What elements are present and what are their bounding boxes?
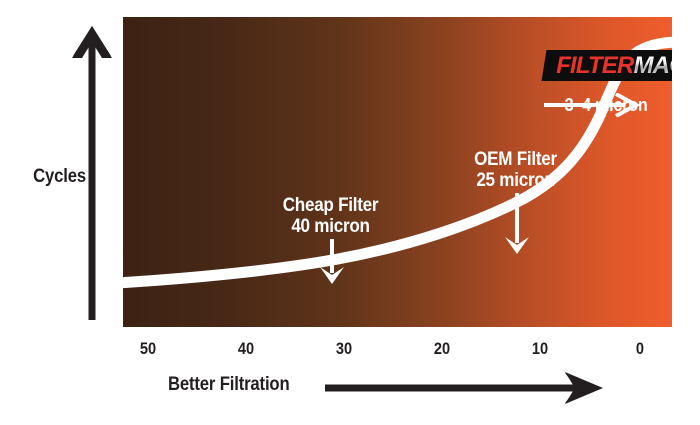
x-tick-40: 40: [229, 339, 263, 359]
x-tick-50: 50: [131, 339, 165, 359]
filtermag-logo: FILTERMAG®: [544, 50, 672, 81]
annotation-oem-filter-line2: 25 micron: [432, 170, 599, 191]
x-axis-arrow: [325, 372, 610, 404]
filtration-cycles-chart: Cycles Cheap Filter: [0, 0, 700, 425]
annotation-cheap-filter-line2: 40 micron: [247, 216, 414, 237]
arrow-down-icon-cheap-filter: [319, 239, 345, 285]
x-axis-label: Better Filtration: [168, 374, 289, 396]
plot-area: Cheap Filter 40 micron OEM Filter 25 mic…: [123, 17, 672, 327]
x-tick-20: 20: [425, 339, 459, 359]
annotation-cheap-filter: Cheap Filter 40 micron: [238, 195, 423, 238]
y-axis-label: Cycles: [23, 166, 86, 188]
annotation-oem-filter: OEM Filter 25 micron: [423, 149, 608, 192]
x-tick-0: 0: [623, 339, 657, 359]
annotation-oem-filter-line1: OEM Filter: [432, 149, 599, 170]
arrow-down-icon-oem-filter: [504, 193, 530, 255]
logo-text-mag: MAG: [633, 54, 672, 78]
logo-text-filter: FILTER: [556, 54, 633, 78]
annotation-cheap-filter-line1: Cheap Filter: [247, 195, 414, 216]
logo-wordmark: FILTERMAG®: [544, 50, 672, 81]
x-tick-10: 10: [523, 339, 557, 359]
x-axis-tick-labels: 50 40 30 20 10 0: [123, 339, 672, 361]
x-tick-30: 30: [327, 339, 361, 359]
arrow-right-icon-filtermag: [544, 93, 640, 117]
